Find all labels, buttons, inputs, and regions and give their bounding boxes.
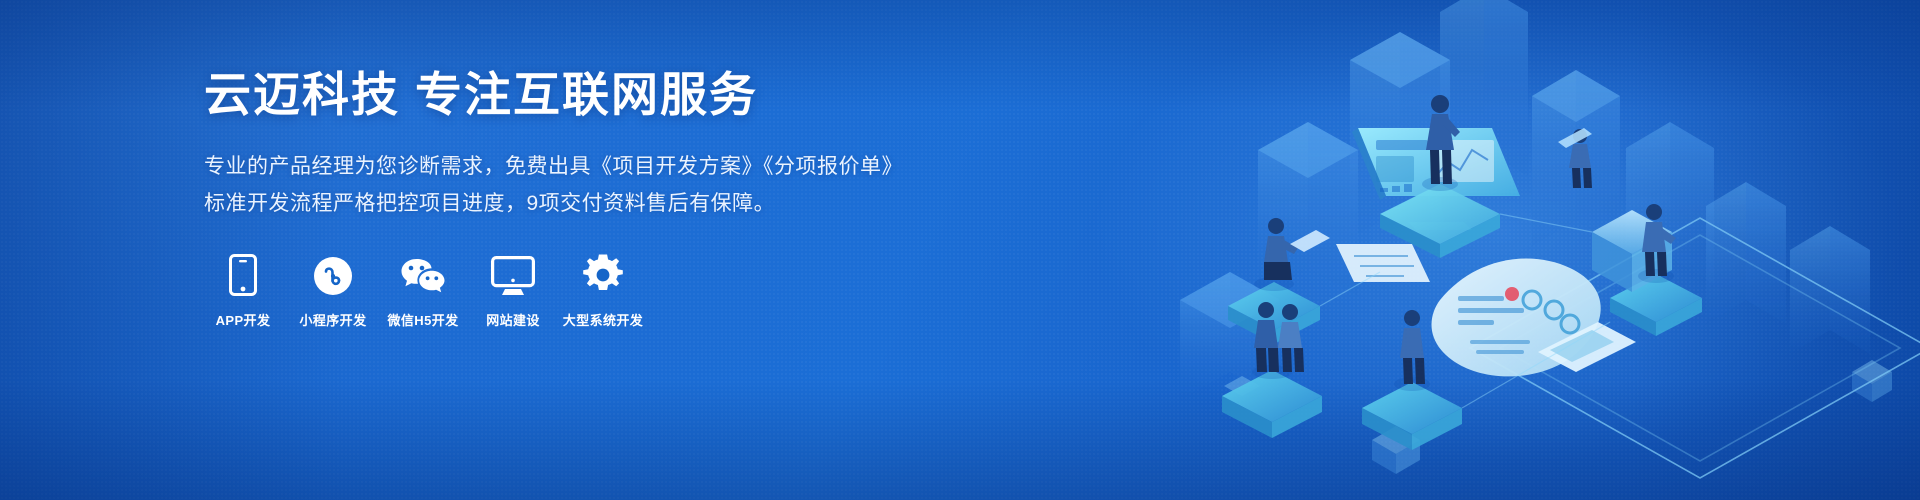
gear-icon: [582, 254, 624, 296]
service-list: APP开发 小程序开发: [204, 254, 904, 329]
subtitle-line-2: 标准开发流程严格把控项目进度，9项交付资料售后有保障。: [204, 186, 904, 223]
wechat-icon: [400, 254, 446, 296]
service-item-app[interactable]: APP开发: [204, 254, 282, 329]
service-item-website[interactable]: 网站建设: [474, 254, 552, 329]
service-label: 大型系统开发: [563, 310, 643, 329]
hero-banner: 云迈科技 专注互联网服务 专业的产品经理为您诊断需求，免费出具《项目开发方案》《…: [0, 0, 1920, 500]
service-label: 小程序开发: [299, 310, 366, 329]
mini-program-icon: [313, 254, 353, 296]
service-label: 网站建设: [486, 310, 540, 329]
smartphone-icon: [229, 254, 257, 296]
banner-content: 云迈科技 专注互联网服务 专业的产品经理为您诊断需求，免费出具《项目开发方案》《…: [204, 66, 904, 329]
service-item-wechat[interactable]: 微信H5开发: [384, 254, 462, 329]
floating-cubes: [1224, 360, 1892, 474]
person-bottom-right: [1394, 310, 1430, 391]
service-item-large-system[interactable]: 大型系统开发: [564, 254, 642, 329]
service-label: APP开发: [216, 310, 271, 329]
service-item-miniprogram[interactable]: 小程序开发: [294, 254, 372, 329]
illustration: [1140, 0, 1920, 500]
service-label: 微信H5开发: [387, 310, 458, 329]
subtitle-line-1: 专业的产品经理为您诊断需求，免费出具《项目开发方案》《分项报价单》: [204, 149, 904, 186]
monitor-icon: [491, 254, 535, 296]
page-title: 云迈科技 专注互联网服务: [204, 66, 904, 123]
banner-subtitle: 专业的产品经理为您诊断需求，免费出具《项目开发方案》《分项报价单》 标准开发流程…: [204, 149, 904, 222]
